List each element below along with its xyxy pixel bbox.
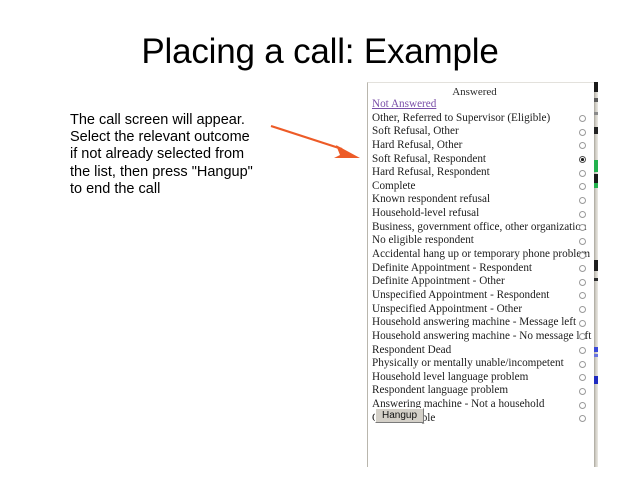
outcome-radio[interactable] bbox=[579, 347, 586, 354]
outcome-radio[interactable] bbox=[579, 252, 586, 259]
hangup-button[interactable]: Hangup bbox=[375, 408, 424, 423]
edge-strip-mark bbox=[594, 183, 598, 188]
edge-strip-mark bbox=[594, 112, 598, 115]
outcome-radio[interactable] bbox=[579, 374, 586, 381]
outcome-row[interactable]: Respondent language problem bbox=[372, 384, 596, 398]
outcome-radio[interactable] bbox=[579, 320, 586, 327]
outcome-row[interactable]: Known respondent refusal bbox=[372, 193, 596, 207]
outcome-row[interactable]: Other, Referred to Supervisor (Eligible) bbox=[372, 112, 596, 126]
outcome-row[interactable]: Complete bbox=[372, 180, 596, 194]
edge-strip-mark bbox=[594, 98, 598, 102]
outcome-label: Complete bbox=[372, 180, 416, 194]
outcome-label: Household answering machine - Message le… bbox=[372, 316, 576, 330]
outcome-label: Other, Referred to Supervisor (Eligible) bbox=[372, 112, 550, 126]
right-edge-scroll-strip[interactable] bbox=[594, 82, 598, 467]
outcome-radio[interactable] bbox=[579, 238, 586, 245]
outcome-row[interactable]: Hard Refusal, Respondent bbox=[372, 166, 596, 180]
edge-strip-mark bbox=[594, 347, 598, 352]
outcome-label: Hard Refusal, Other bbox=[372, 139, 462, 153]
slide-canvas: Placing a call: Example The call screen … bbox=[0, 0, 640, 480]
edge-strip-mark bbox=[594, 260, 598, 271]
edge-strip-mark bbox=[594, 82, 598, 92]
edge-strip-mark bbox=[594, 354, 598, 357]
outcome-row[interactable]: Household answering machine - No message… bbox=[372, 330, 596, 344]
outcome-radio[interactable] bbox=[579, 265, 586, 272]
outcome-radio[interactable] bbox=[579, 361, 586, 368]
outcome-label: Unspecified Appointment - Respondent bbox=[372, 289, 549, 303]
outcome-row[interactable]: Respondent Dead bbox=[372, 344, 596, 358]
outcome-label: No eligible respondent bbox=[372, 234, 474, 248]
outcome-row[interactable]: Physically or mentally unable/incompeten… bbox=[372, 357, 596, 371]
outcome-label: Household answering machine - No message… bbox=[372, 330, 591, 344]
outcome-radio[interactable] bbox=[579, 388, 586, 395]
outcome-label: Accidental hang up or temporary phone pr… bbox=[372, 248, 590, 262]
outcome-radio[interactable] bbox=[579, 142, 586, 149]
outcome-label: Business, government office, other organ… bbox=[372, 221, 587, 235]
outcome-row[interactable]: Unspecified Appointment - Other bbox=[372, 303, 596, 317]
outcome-label: Household level language problem bbox=[372, 371, 528, 385]
outcome-radio[interactable] bbox=[579, 415, 586, 422]
outcome-row[interactable]: Accidental hang up or temporary phone pr… bbox=[372, 248, 596, 262]
outcome-label: Respondent language problem bbox=[372, 384, 508, 398]
call-screen-panel: Answered Not Answered Other, Referred to… bbox=[367, 82, 598, 467]
instruction-line: to end the call bbox=[70, 181, 280, 198]
outcome-radio[interactable] bbox=[579, 183, 586, 190]
outcome-label: Definite Appointment - Other bbox=[372, 275, 505, 289]
outcome-row[interactable]: Household-level refusal bbox=[372, 207, 596, 221]
outcome-row[interactable]: Hard Refusal, Other bbox=[372, 139, 596, 153]
outcome-radio[interactable] bbox=[579, 279, 586, 286]
outcome-label: Household-level refusal bbox=[372, 207, 479, 221]
outcome-radio[interactable] bbox=[579, 306, 586, 313]
outcome-radio[interactable] bbox=[579, 170, 586, 177]
outcome-row[interactable]: No eligible respondent bbox=[372, 234, 596, 248]
outcome-row[interactable]: Business, government office, other organ… bbox=[372, 221, 596, 235]
not-answered-link[interactable]: Not Answered bbox=[372, 98, 436, 112]
instruction-line: Select the relevant outcome bbox=[70, 129, 280, 146]
outcome-row[interactable]: Unspecified Appointment - Respondent bbox=[372, 289, 596, 303]
outcome-label: Unspecified Appointment - Other bbox=[372, 303, 522, 317]
outcome-radio[interactable] bbox=[579, 292, 586, 299]
not-answered-link-row[interactable]: Not Answered bbox=[372, 98, 596, 112]
outcome-row[interactable]: Definite Appointment - Respondent bbox=[372, 262, 596, 276]
edge-strip-mark bbox=[594, 160, 598, 172]
page-title: Placing a call: Example bbox=[0, 32, 640, 72]
outcome-label: Physically or mentally unable/incompeten… bbox=[372, 357, 564, 371]
edge-strip-mark bbox=[594, 278, 598, 281]
instruction-text: The call screen will appear. Select the … bbox=[70, 112, 280, 198]
outcome-radio[interactable] bbox=[579, 129, 586, 136]
outcome-row[interactable]: Household level language problem bbox=[372, 371, 596, 385]
outcome-radio[interactable] bbox=[579, 211, 586, 218]
arrow-annotation-icon bbox=[268, 115, 364, 163]
edge-strip-mark bbox=[594, 376, 598, 384]
outcome-row[interactable]: Definite Appointment - Other bbox=[372, 275, 596, 289]
outcome-label: Hard Refusal, Respondent bbox=[372, 166, 490, 180]
outcome-radio[interactable] bbox=[579, 402, 586, 409]
outcome-row[interactable]: Soft Refusal, Other bbox=[372, 125, 596, 139]
outcome-row[interactable]: Household answering machine - Message le… bbox=[372, 316, 596, 330]
outcome-label: Soft Refusal, Other bbox=[372, 125, 459, 139]
answered-header: Answered bbox=[368, 86, 581, 98]
outcome-list: Not Answered Other, Referred to Supervis… bbox=[372, 98, 596, 425]
outcome-label: Definite Appointment - Respondent bbox=[372, 262, 532, 276]
outcome-radio-selected[interactable] bbox=[579, 156, 586, 163]
outcome-label: Respondent Dead bbox=[372, 344, 451, 358]
outcome-radio[interactable] bbox=[579, 115, 586, 122]
instruction-line: the list, then press "Hangup" bbox=[70, 164, 280, 181]
outcome-label: Soft Refusal, Respondent bbox=[372, 153, 486, 167]
outcome-label: Known respondent refusal bbox=[372, 193, 490, 207]
outcome-row-selected[interactable]: Soft Refusal, Respondent bbox=[372, 153, 596, 167]
edge-strip-mark bbox=[594, 127, 598, 134]
instruction-line: if not already selected from bbox=[70, 146, 280, 163]
edge-strip-mark bbox=[594, 174, 598, 183]
instruction-line: The call screen will appear. bbox=[70, 112, 280, 129]
outcome-radio[interactable] bbox=[579, 197, 586, 204]
